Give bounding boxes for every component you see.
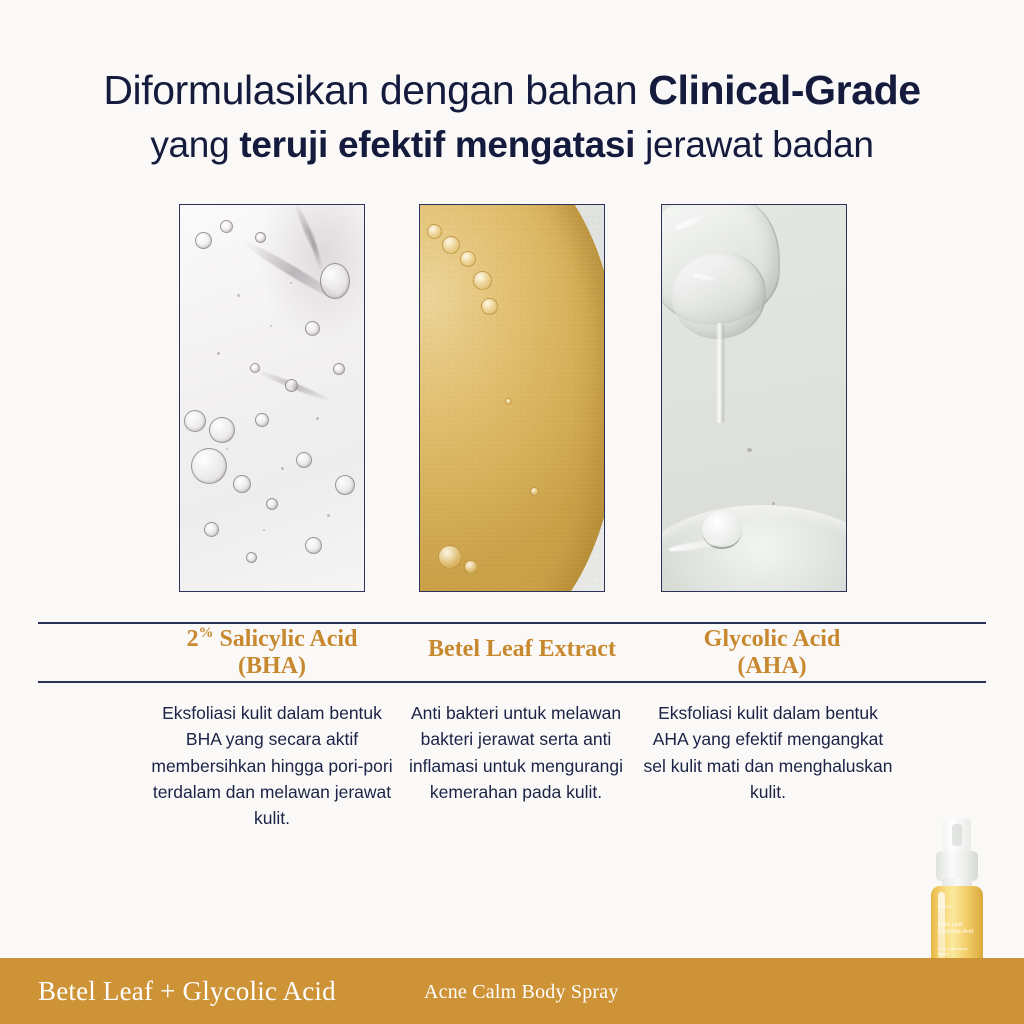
ingredient-title-glycolic-acid: Glycolic Acid (AHA) xyxy=(622,626,922,680)
bottle-brand-text: ECHO xyxy=(938,904,978,909)
ingredient-description-betel-leaf: Anti bakteri untuk melawan bakteri jeraw… xyxy=(389,700,643,805)
spray-nozzle-icon xyxy=(943,818,971,854)
headline: Diformulasikan dengan bahan Clinical-Gra… xyxy=(0,64,1024,169)
ingredient-title-salicylic-number: 2 xyxy=(187,626,199,652)
swatch-betel-leaf-extract xyxy=(419,204,605,592)
bottle-product-subtitle: Acne Calm Body Spray xyxy=(938,946,978,956)
bottle-collar xyxy=(936,851,978,881)
divider-rule-top xyxy=(38,622,986,624)
ingredient-swatch-row xyxy=(0,204,1024,594)
ingredient-title-salicylic-rest: Salicylic Acid xyxy=(213,626,357,652)
golden-liquid-texture xyxy=(420,205,604,591)
swatch-salicylic-acid xyxy=(179,204,365,592)
headline-line-1-plain: Diformulasikan dengan bahan xyxy=(103,67,648,113)
bottle-product-name-line-1: Betel Leaf xyxy=(938,922,978,929)
ingredient-subtitle-aha: (AHA) xyxy=(622,653,922,680)
ingredient-description-row: Eksfoliasi kulit dalam bentuk BHA yang s… xyxy=(0,700,1024,840)
divider-rule-bottom xyxy=(38,681,986,683)
bottle-product-name: Betel Leaf + Glycolic Acid xyxy=(938,922,978,937)
headline-line-1: Diformulasikan dengan bahan Clinical-Gra… xyxy=(0,64,1024,117)
headline-line-2-plain-a: yang xyxy=(150,124,239,165)
clear-gel-drip-texture xyxy=(662,205,846,591)
headline-line-1-emphasis: Clinical-Grade xyxy=(648,67,920,113)
headline-line-2: yang teruji efektif mengatasi jerawat ba… xyxy=(0,121,1024,169)
bottle-product-name-line-2: + Glycolic Acid xyxy=(938,929,978,936)
footer-brand-text: Betel Leaf + Glycolic Acid xyxy=(38,976,336,1007)
clear-gel-bubbles-texture xyxy=(180,205,364,591)
headline-line-2-emphasis: teruji efektif mengatasi xyxy=(239,124,635,165)
ingredient-description-salicylic-acid: Eksfoliasi kulit dalam bentuk BHA yang s… xyxy=(145,700,399,831)
ingredient-title-glycolic-rest: Glycolic Acid xyxy=(704,626,841,652)
ingredient-description-glycolic-acid: Eksfoliasi kulit dalam bentuk AHA yang e… xyxy=(641,700,895,805)
footer-product-text: Acne Calm Body Spray xyxy=(424,981,619,1004)
footer-bar: Betel Leaf + Glycolic Acid Acne Calm Bod… xyxy=(0,958,1024,1024)
swatch-glycolic-acid xyxy=(661,204,847,592)
ingredient-title-betel-rest: Betel Leaf Extract xyxy=(428,636,616,662)
ingredient-title-row: 2% Salicylic Acid (BHA) Betel Leaf Extra… xyxy=(0,626,1024,680)
headline-line-2-plain-b: jerawat badan xyxy=(635,124,874,165)
percent-sign-icon: % xyxy=(199,625,214,641)
